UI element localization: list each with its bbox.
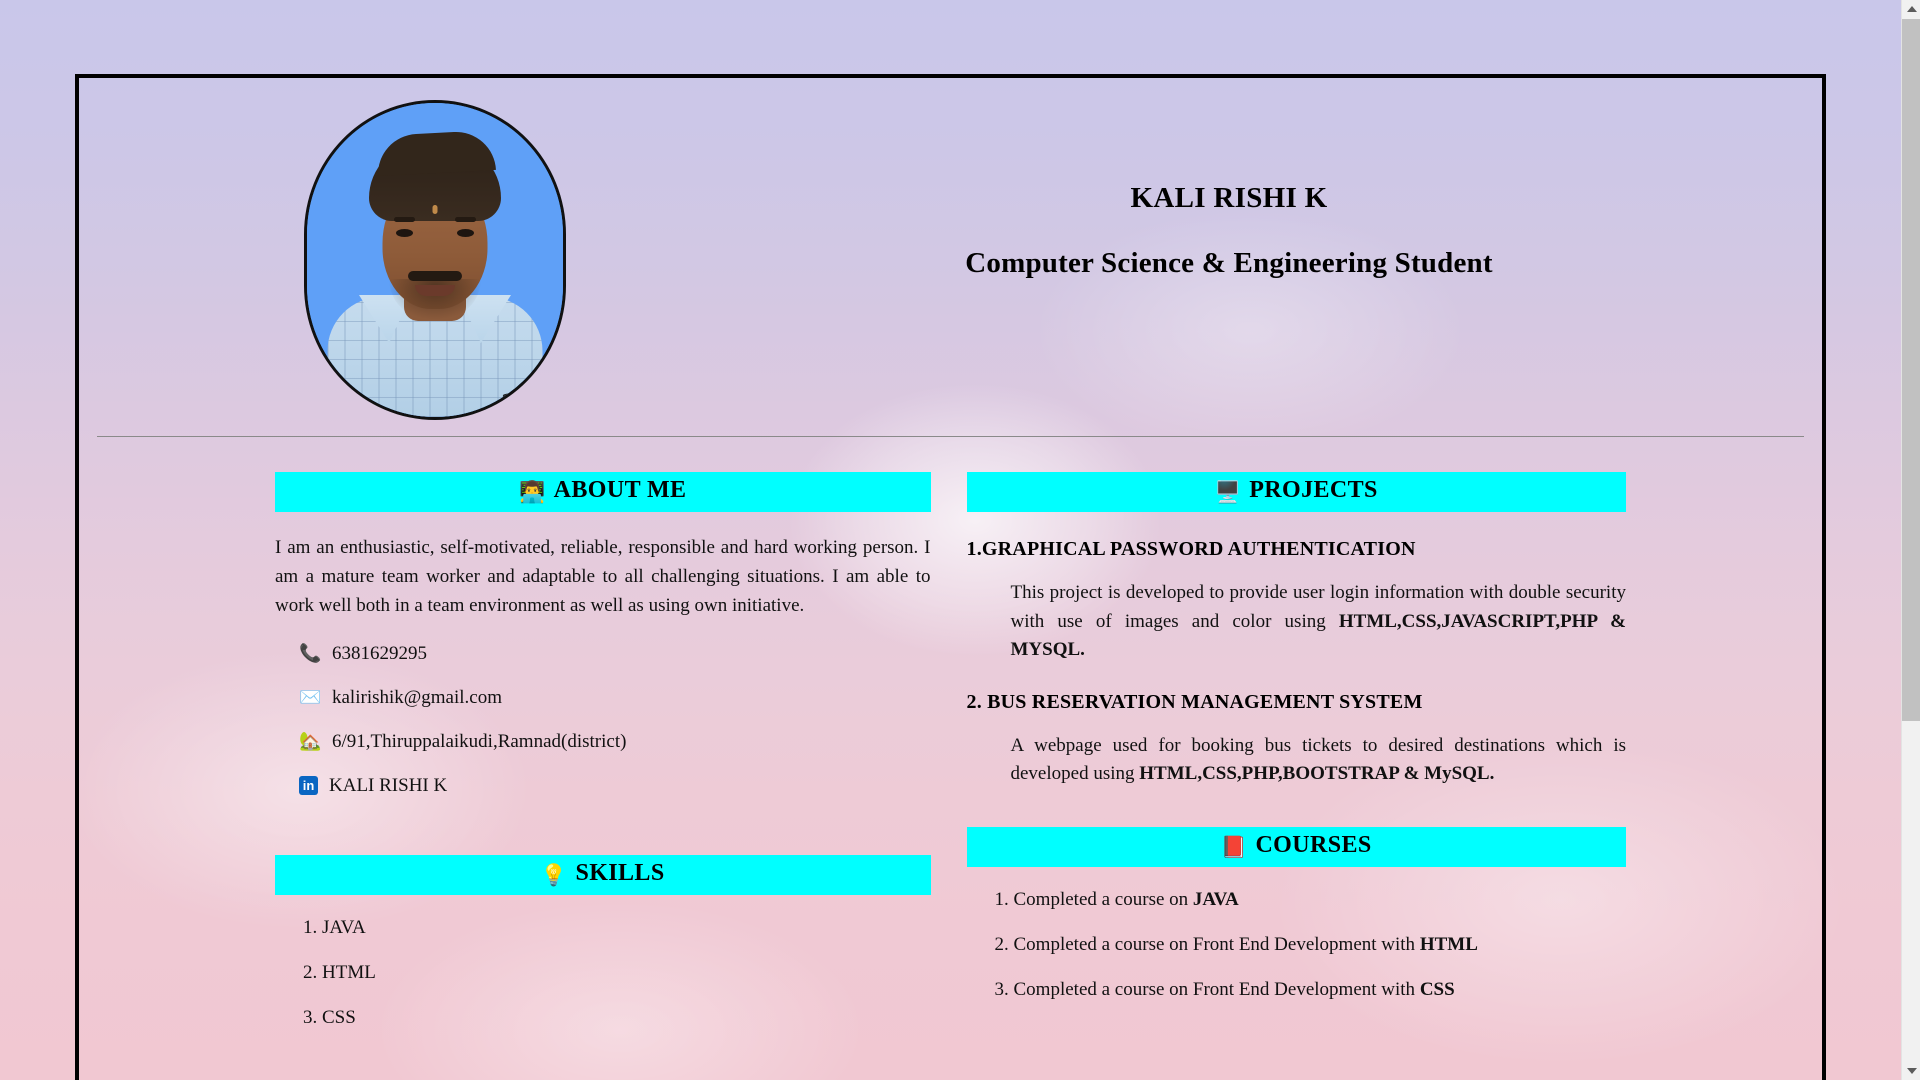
photo-eye-left (396, 229, 413, 237)
course-number: 3. (995, 979, 1009, 1000)
scroll-up-arrow-icon[interactable] (1902, 0, 1920, 18)
list-item: 2. HTML (303, 962, 931, 984)
course-text: Completed a course on Front End Developm… (1014, 934, 1420, 955)
photo-eye-right (457, 229, 474, 237)
left-column: 👨‍💻ABOUT ME I am an enthusiastic, self-m… (79, 472, 951, 1052)
resume-card: KALI RISHI K Computer Science & Engineer… (75, 74, 1826, 1080)
photo-eyebrow-left (394, 217, 415, 222)
list-item: 1. JAVA (303, 917, 931, 939)
section-header-projects: 🖥️PROJECTS (967, 472, 1627, 512)
contact-value-linkedin: KALI RISHI K (329, 775, 447, 797)
home-icon: 🏡 (299, 731, 321, 752)
courses-list: 1. Completed a course on JAVA 2. Complet… (967, 889, 1627, 1001)
course-number: 2. (995, 934, 1009, 955)
light-bulb-icon: 💡 (541, 863, 568, 887)
project-description: This project is developed to provide use… (1011, 579, 1627, 665)
scrollbar-track[interactable] (1902, 721, 1920, 1062)
about-paragraph: I am an enthusiastic, self-motivated, re… (275, 534, 931, 621)
skill-number: 1. (303, 917, 317, 938)
skill-number: 3. (303, 1007, 317, 1028)
contact-value-email: kalirishik@gmail.com (332, 687, 502, 709)
list-item: 1. Completed a course on JAVA (995, 889, 1627, 911)
photo-eyebrow-right (455, 217, 476, 222)
page-title: KALI RISHI K (639, 78, 1819, 215)
course-text: Completed a course on Front End Developm… (1014, 979, 1420, 1000)
contact-value-address: 6/91,Thiruppalaikudi,Ramnad(district) (332, 731, 626, 753)
course-number: 1. (995, 889, 1009, 910)
project-tech-stack: HTML,CSS,PHP,BOOTSTRAP & MySQL. (1139, 763, 1494, 784)
photo-mouth (415, 285, 455, 296)
section-header-skills: 💡SKILLS (275, 855, 931, 895)
list-item: 3. CSS (303, 1007, 931, 1029)
email-icon: ✉️ (299, 687, 321, 708)
skills-list: 1. JAVA 2. HTML 3. CSS (275, 917, 931, 1029)
resume-header: KALI RISHI K Computer Science & Engineer… (79, 78, 1822, 438)
closed-book-icon: 📕 (1221, 835, 1248, 859)
contact-item-address[interactable]: 🏡 6/91,Thiruppalaikudi,Ramnad(district) (299, 731, 931, 753)
course-tech: JAVA (1193, 889, 1239, 910)
skill-label: CSS (322, 1007, 356, 1028)
contact-item-phone[interactable]: 📞 6381629295 (299, 643, 931, 665)
section-header-about: 👨‍💻ABOUT ME (275, 472, 931, 512)
contact-item-linkedin[interactable]: in KALI RISHI K (299, 775, 931, 797)
section-header-courses: 📕COURSES (967, 827, 1627, 867)
page-subtitle: Computer Science & Engineering Student (639, 215, 1819, 280)
browser-viewport: KALI RISHI K Computer Science & Engineer… (0, 0, 1920, 1080)
project-description: A webpage used for booking bus tickets t… (1011, 732, 1627, 789)
profile-photo-wrapper (304, 100, 566, 420)
contact-list: 📞 6381629295 ✉️ kalirishik@gmail.com 🏡 6… (275, 643, 931, 797)
course-tech: CSS (1420, 979, 1455, 1000)
section-title-courses: COURSES (1255, 832, 1371, 858)
linkedin-icon: in (299, 776, 318, 795)
list-item: 2. Completed a course on Front End Devel… (995, 934, 1627, 956)
course-tech: HTML (1420, 934, 1478, 955)
course-text: Completed a course on (1014, 889, 1193, 910)
header-divider (97, 436, 1804, 437)
skill-label: HTML (322, 962, 376, 983)
header-text-block: KALI RISHI K Computer Science & Engineer… (639, 78, 1819, 280)
skill-number: 2. (303, 962, 317, 983)
profile-photo (304, 100, 566, 420)
section-title-projects: PROJECTS (1249, 477, 1378, 503)
desktop-computer-icon: 🖥️ (1215, 480, 1242, 504)
project-heading: 1.GRAPHICAL PASSWORD AUTHENTICATION (967, 538, 1627, 561)
scrollbar-thumb[interactable] (1902, 19, 1920, 721)
vertical-scrollbar[interactable] (1901, 0, 1920, 1080)
right-column: 🖥️PROJECTS 1.GRAPHICAL PASSWORD AUTHENTI… (951, 472, 1823, 1052)
section-title-skills: SKILLS (575, 860, 664, 886)
photo-moustache (408, 271, 462, 281)
section-title-about: ABOUT ME (554, 477, 687, 503)
list-item: 3. Completed a course on Front End Devel… (995, 979, 1627, 1001)
content-columns: 👨‍💻ABOUT ME I am an enthusiastic, self-m… (79, 438, 1822, 1052)
scroll-down-arrow-icon[interactable] (1902, 1062, 1920, 1080)
phone-icon: 📞 (299, 643, 321, 664)
photo-forehead-mark (433, 205, 438, 214)
page-content-area: KALI RISHI K Computer Science & Engineer… (0, 0, 1901, 1080)
project-heading: 2. BUS RESERVATION MANAGEMENT SYSTEM (967, 691, 1627, 714)
man-technologist-icon: 👨‍💻 (519, 480, 546, 504)
skill-label: JAVA (322, 917, 366, 938)
contact-value-phone: 6381629295 (332, 643, 427, 665)
contact-item-email[interactable]: ✉️ kalirishik@gmail.com (299, 687, 931, 709)
